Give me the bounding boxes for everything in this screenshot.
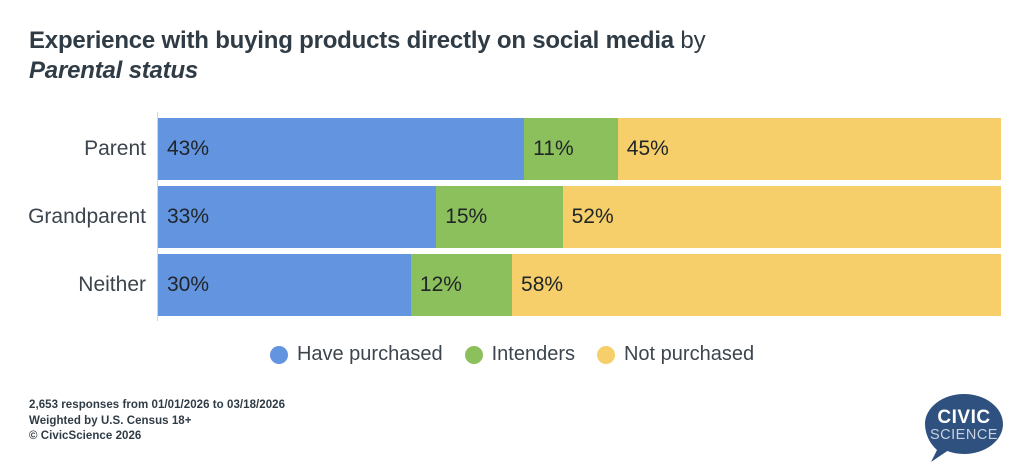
title-connector: by (674, 27, 705, 54)
civicscience-logo: CIVIC SCIENCE (925, 394, 1003, 466)
bar-segment-have-purchased[interactable]: 30% (158, 254, 411, 316)
page-title: Experience with buying products directly… (29, 26, 929, 86)
legend-label: Intenders (492, 343, 575, 366)
bar-segment-intenders[interactable]: 15% (436, 186, 562, 248)
bar-rows: Parent43%11%45%Grandparent33%15%52%Neith… (158, 118, 1001, 316)
chart-plot-area: Parent43%11%45%Grandparent33%15%52%Neith… (0, 112, 1024, 322)
legend-label: Have purchased (297, 343, 443, 366)
bar-row: Neither30%12%58% (158, 254, 1001, 316)
bar-segment-have-purchased[interactable]: 43% (158, 118, 524, 180)
bar-segment-value: 52% (572, 186, 614, 248)
category-label: Grandparent (28, 186, 158, 248)
legend-item-intenders[interactable]: Intenders (465, 343, 575, 366)
speech-bubble-icon: CIVIC SCIENCE (925, 394, 1003, 466)
legend-item-have-purchased[interactable]: Have purchased (270, 343, 443, 366)
legend-item-not-purchased[interactable]: Not purchased (597, 343, 754, 366)
category-label: Neither (78, 254, 158, 316)
legend-label: Not purchased (624, 343, 754, 366)
bar-segment-value: 15% (445, 186, 487, 248)
svg-text:SCIENCE: SCIENCE (930, 427, 998, 443)
bar-segment-not-purchased[interactable]: 58% (512, 254, 1001, 316)
bar-segment-value: 30% (167, 254, 209, 316)
bar-segment-intenders[interactable]: 11% (524, 118, 618, 180)
bar-segment-not-purchased[interactable]: 52% (563, 186, 1001, 248)
bar-segment-value: 12% (420, 254, 462, 316)
footnote-copyright: © CivicScience 2026 (29, 429, 285, 445)
footnote-weighting: Weighted by U.S. Census 18+ (29, 414, 285, 430)
bar-segment-have-purchased[interactable]: 33% (158, 186, 436, 248)
bar-segment-value: 58% (521, 254, 563, 316)
bar-segment-value: 11% (533, 118, 573, 180)
footnote: 2,653 responses from 01/01/2026 to 03/18… (29, 398, 285, 445)
footnote-responses: 2,653 responses from 01/01/2026 to 03/18… (29, 398, 285, 414)
title-main: Experience with buying products directly… (29, 27, 674, 54)
legend-swatch-icon (597, 346, 615, 364)
bar-segment-value: 43% (167, 118, 209, 180)
svg-text:CIVIC: CIVIC (937, 407, 990, 428)
legend-swatch-icon (465, 346, 483, 364)
legend-swatch-icon (270, 346, 288, 364)
chart-legend: Have purchasedIntendersNot purchased (0, 343, 1024, 366)
bar-row: Parent43%11%45% (158, 118, 1001, 180)
title-breakout: Parental status (29, 57, 198, 84)
bar-segment-value: 33% (167, 186, 209, 248)
bar-segment-value: 45% (627, 118, 669, 180)
bar-segment-intenders[interactable]: 12% (411, 254, 512, 316)
bar-row: Grandparent33%15%52% (158, 186, 1001, 248)
category-label: Parent (84, 118, 158, 180)
bar-segment-not-purchased[interactable]: 45% (618, 118, 1001, 180)
